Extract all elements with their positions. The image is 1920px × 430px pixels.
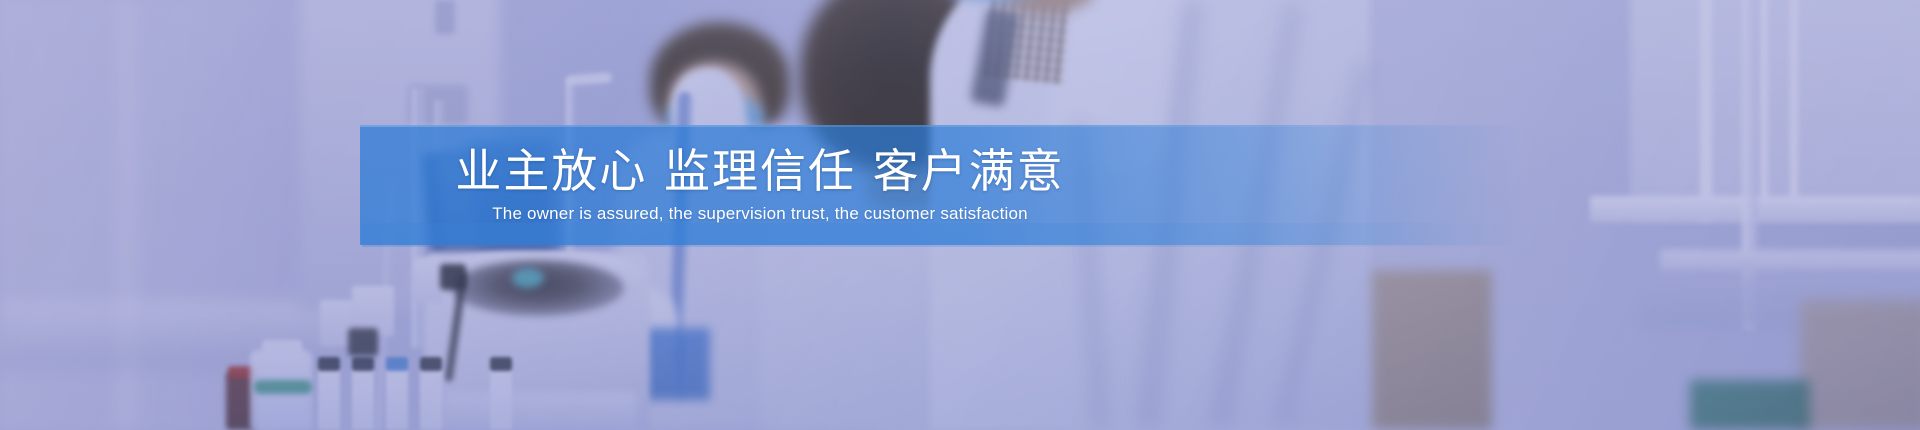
hero-banner: 业主放心 监理信任 客户满意 The owner is assured, the…: [0, 0, 1920, 430]
headline-band-top-edge: [360, 125, 1520, 127]
headline-band-extension: [362, 223, 1522, 247]
